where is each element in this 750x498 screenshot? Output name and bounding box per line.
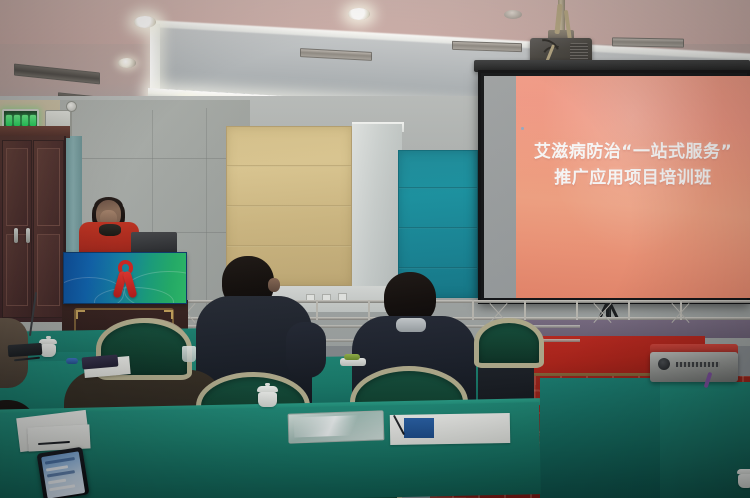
folder-highlight [294,415,379,438]
attendee-shirt-collar [396,318,426,332]
slide-title-block: 艾滋病防治“一站式服务” 推广应用项目培训班 [516,140,750,191]
slide-title-line-2: 推广应用项目培训班 [516,166,750,192]
teacup-lid [39,339,57,344]
door-handle-icon[interactable] [14,228,18,243]
exit-sign-glyph [6,115,12,126]
document-header-block [404,418,434,438]
phone-ui-row [48,479,66,485]
phone-ui-row [49,484,75,491]
door-panel-inset [37,234,60,306]
presenter-scarf [99,224,121,236]
phone-ui-row [45,457,75,465]
notebook[interactable] [8,343,43,357]
water-glass[interactable] [182,346,196,362]
projector-lens-icon [658,358,670,370]
teacup-lid [257,386,278,392]
downlight-icon [118,58,136,68]
panel-seam [399,187,477,189]
door-handle-icon[interactable] [26,228,30,243]
attendee-ear [268,278,280,292]
truss-post [472,300,474,320]
projector-ports [676,362,720,367]
panel-seam [227,205,351,207]
wall-seam [206,108,207,308]
exit-sign-glyph [14,115,20,126]
panel-seam [399,227,477,229]
truss-post [524,300,526,320]
lidded-teacup[interactable] [40,344,56,357]
panel-seam [227,165,351,167]
attendee-smartphone[interactable] [37,447,90,498]
wall-knob-icon [66,101,77,112]
truss-post [628,300,630,320]
exit-sign-glyph [30,115,36,126]
lidded-teacup[interactable] [258,392,277,407]
phone-ui-row [47,470,75,477]
entry-doors [0,136,66,322]
downlight-icon [134,16,156,28]
phone-screen [41,451,85,498]
panel-seam [399,267,477,269]
screen-speck [521,127,524,130]
aids-awareness-ribbon [110,260,140,297]
air-vent [612,37,684,47]
right-table [540,378,660,498]
downlight-icon [348,8,370,20]
snack-food [344,354,360,360]
lidded-teacup[interactable] [738,474,750,488]
truss-post [368,300,370,320]
podium-corner-ornament [164,310,173,319]
smoke-detector-icon [504,10,522,19]
truss-post [576,300,578,320]
blue-marker-cap [66,358,78,364]
teacup-knob [265,383,270,386]
truss-post [316,300,318,320]
door-panel-inset [6,234,28,306]
exit-sign-glyph [22,115,28,126]
door-panel-inset [37,148,60,226]
teacup-knob [46,336,51,339]
ribbon-arm-right [122,270,137,298]
teacup-lid [737,469,750,474]
banquet-chair[interactable] [474,318,544,368]
cove-light-left [150,24,160,99]
podium-corner-ornament [76,310,85,319]
attendee-arm [286,322,326,378]
door-panel-inset [6,148,28,226]
wall-alcove [352,124,402,300]
slide-title-line-1: 艾滋病防治“一站式服务” [516,140,750,166]
conference-room-photo: 艾滋病防治“一站式服务” 推广应用项目培训班 [0,0,750,498]
panel-seam [227,245,351,247]
right-side-table [660,382,750,498]
